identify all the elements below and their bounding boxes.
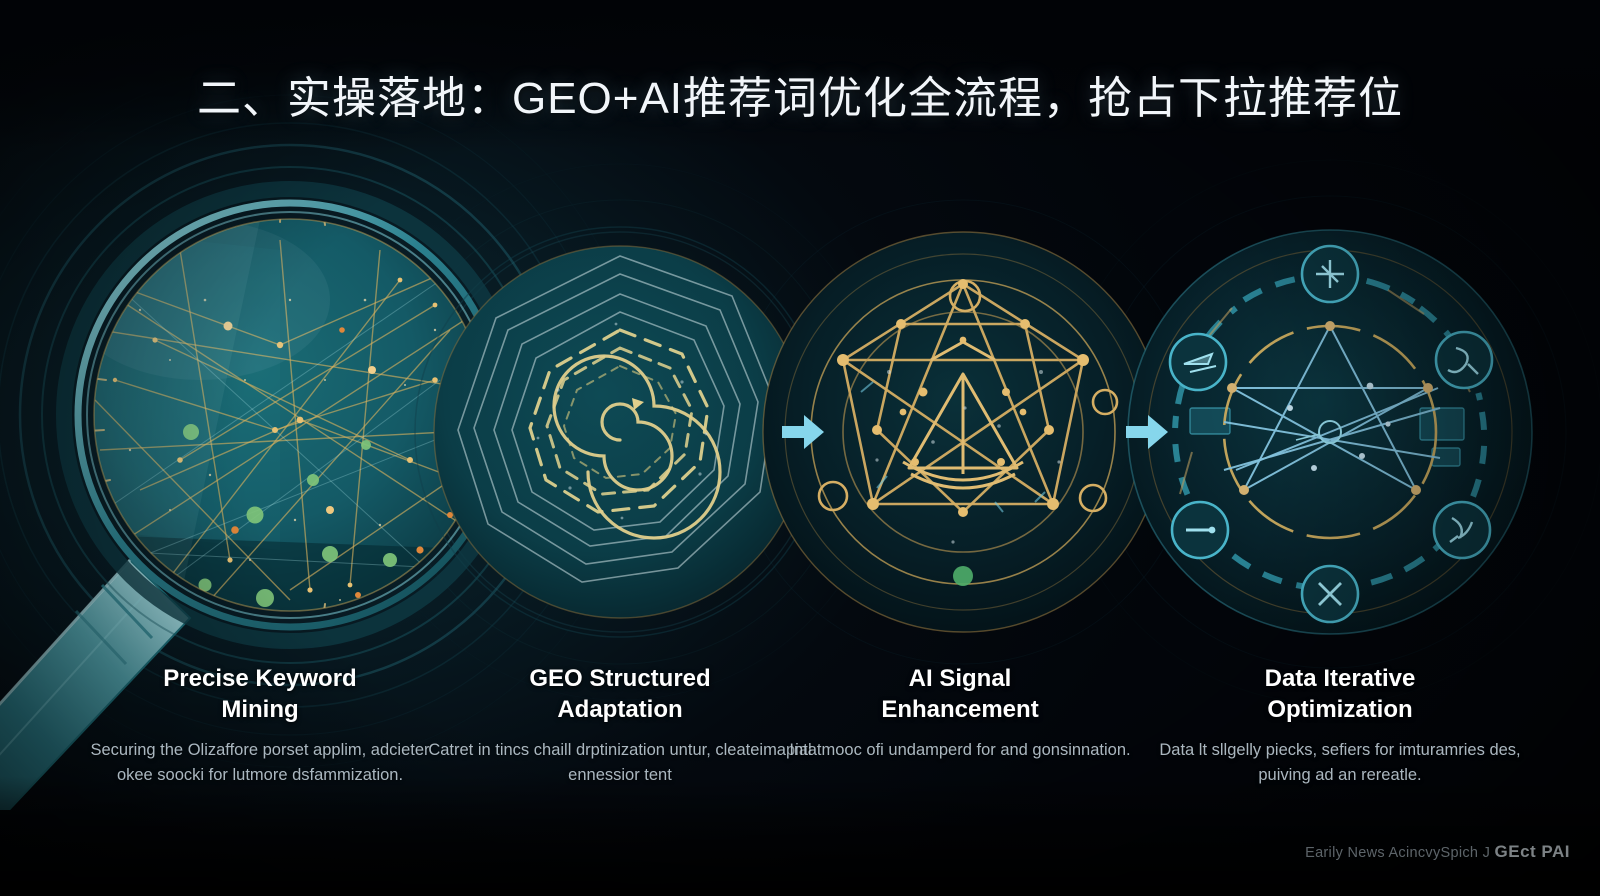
watermark: Earily News AcincvySpich J GEct PAI bbox=[1305, 842, 1570, 862]
step-1-title-line2: Mining bbox=[221, 696, 298, 723]
watermark-large-text: GEct PAI bbox=[1495, 842, 1570, 861]
step-3-title-line2: Enhancement bbox=[881, 696, 1038, 723]
watermark-small-text: Earily News AcincvySpich J bbox=[1305, 845, 1490, 861]
step-1-description: Securing the Olizaffore porset applim, a… bbox=[60, 738, 460, 788]
step-4-title-line1: Data Iterative bbox=[1265, 665, 1416, 692]
step-4-description: Data lt sllgelly piecks, sefiers for imt… bbox=[1140, 738, 1540, 788]
step-card-1: Precise Keyword Mining Securing the Oliz… bbox=[60, 150, 460, 850]
step-3-title-line1: AI Signal bbox=[909, 665, 1012, 692]
step-3-description: Intatmooc ofi undamperd for and gonsinna… bbox=[760, 738, 1160, 763]
page-title: 二、实操落地：GEO+AI推荐词优化全流程，抢占下拉推荐位 bbox=[0, 62, 1600, 126]
step-4-title-line2: Optimization bbox=[1267, 696, 1412, 723]
step-card-3: AI Signal Enhancement Intatmooc ofi unda… bbox=[760, 150, 1160, 850]
step-1-title-line1: Precise Keyword bbox=[163, 665, 356, 692]
step-card-4: Data Iterative Optimization Data lt sllg… bbox=[1140, 150, 1540, 850]
slide-canvas: 二、实操落地：GEO+AI推荐词优化全流程，抢占下拉推荐位 Precise Ke… bbox=[0, 0, 1600, 896]
step-2-title-line2: Adaptation bbox=[557, 696, 682, 723]
step-2-title-line1: GEO Structured bbox=[529, 665, 710, 692]
